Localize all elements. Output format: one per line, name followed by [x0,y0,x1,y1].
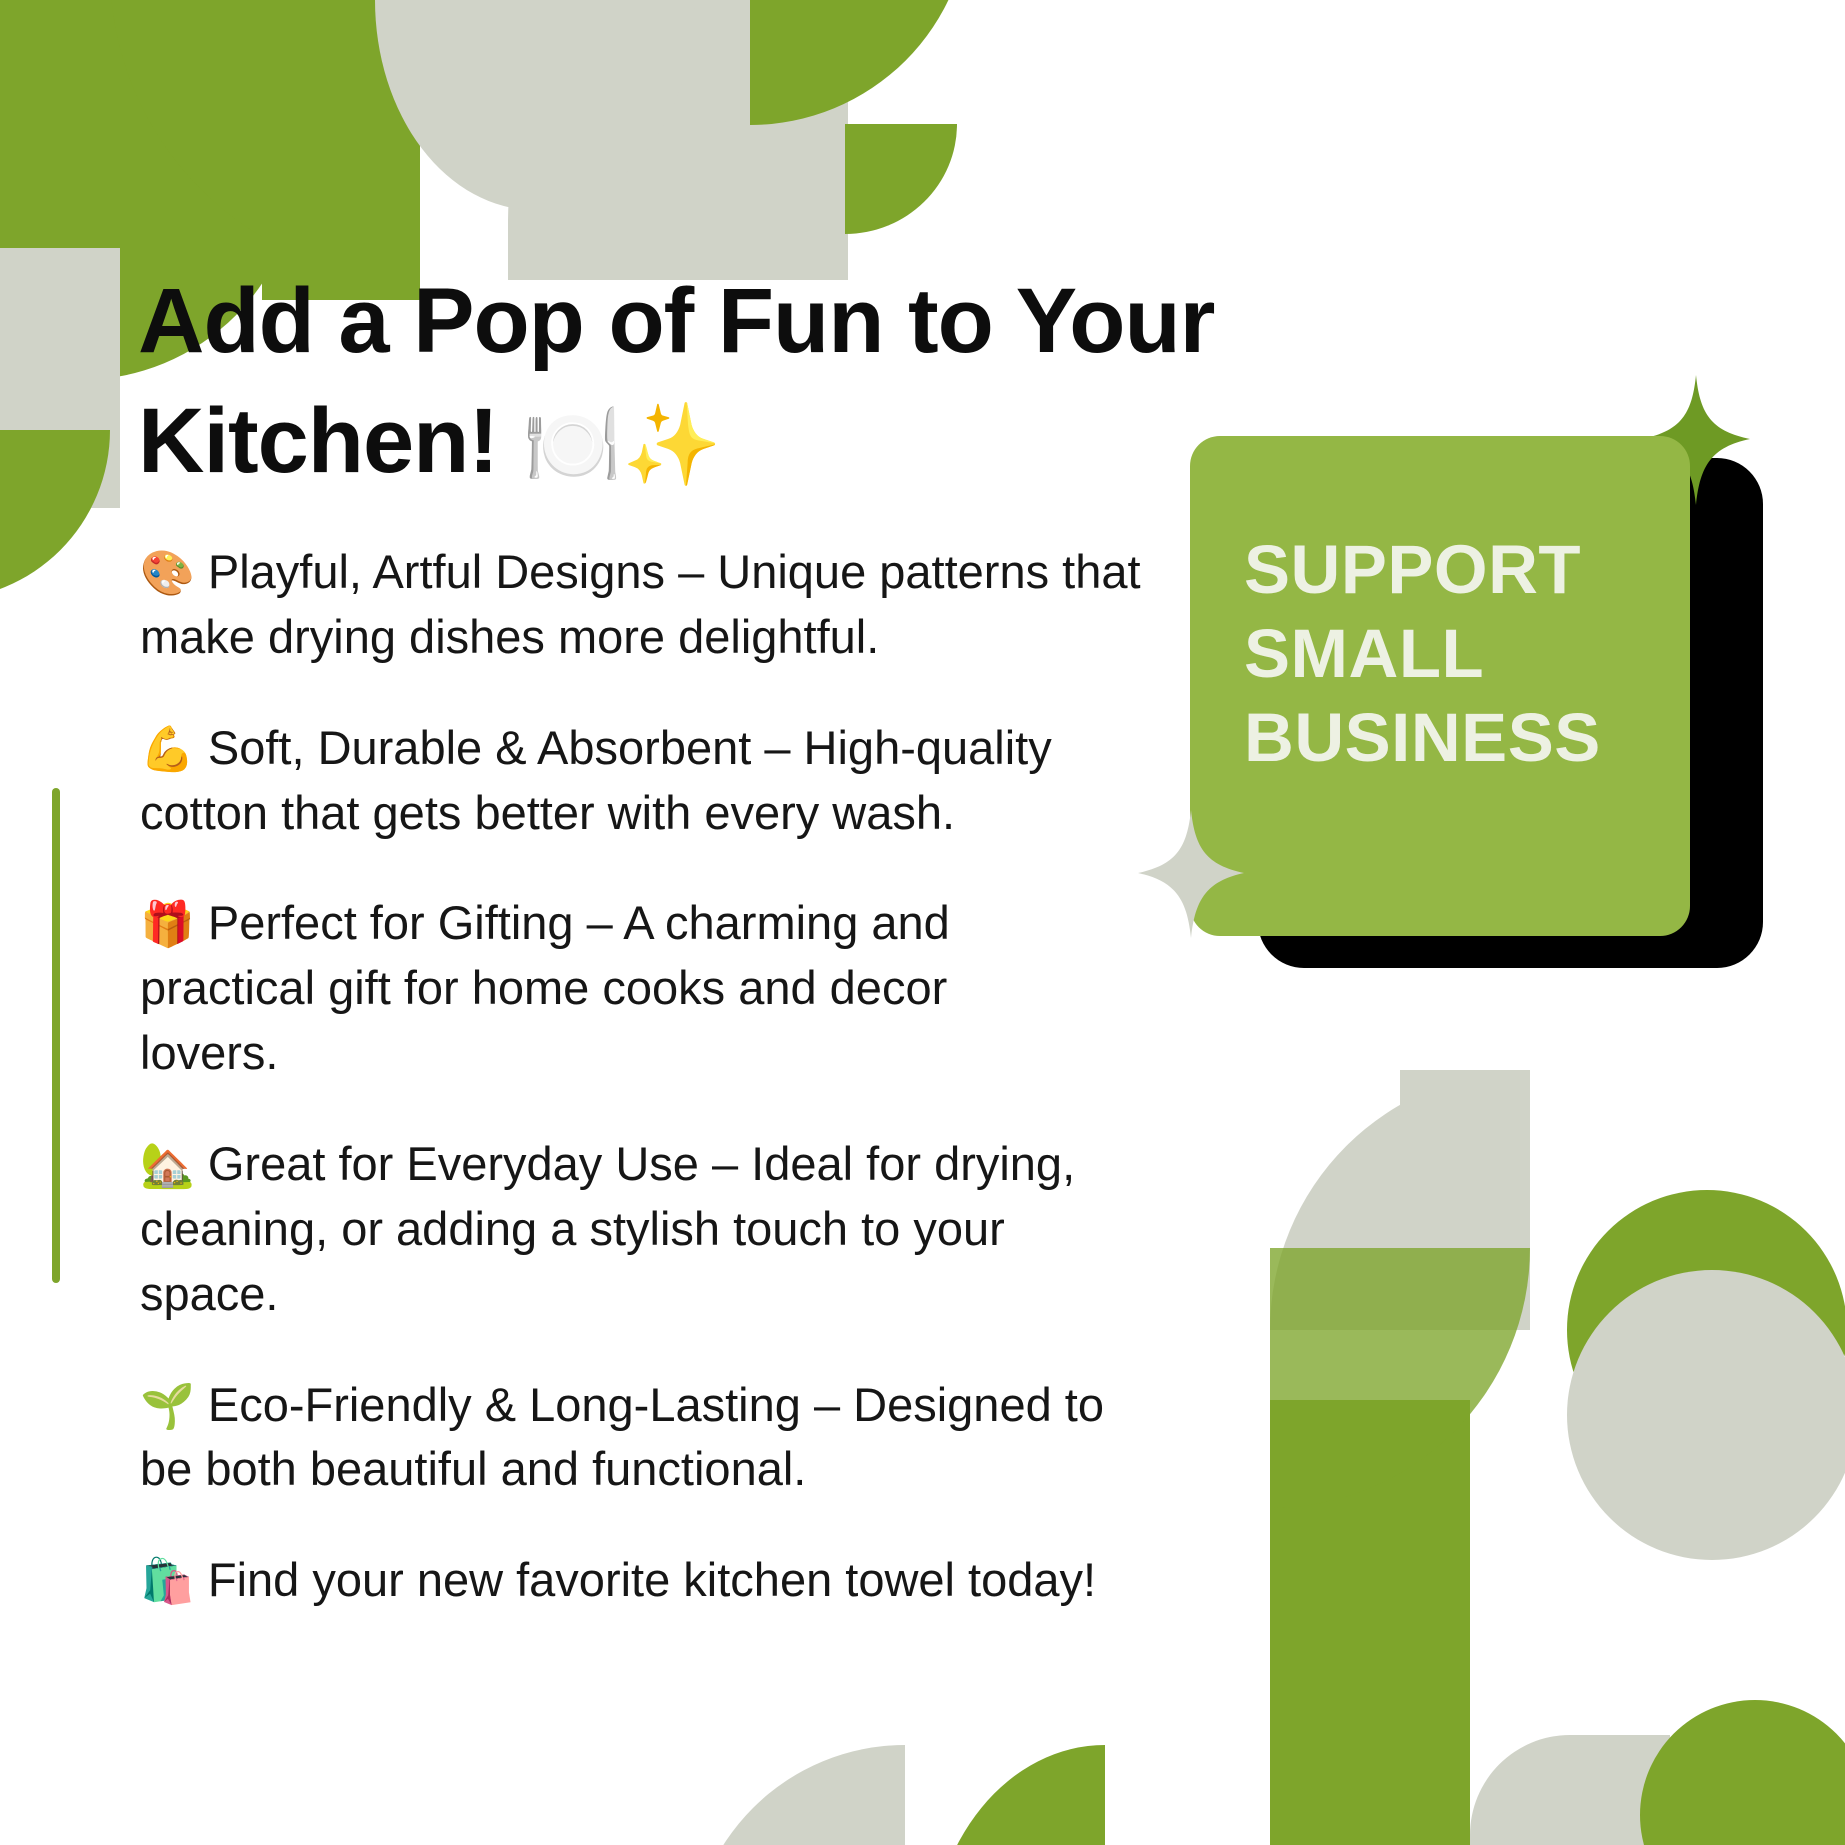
deco-left-accent-line [52,788,60,1283]
deco-bottom-right-gray-circle [1567,1270,1845,1560]
deco-top-left-gray-ellipse [375,0,695,210]
list-item-text: Soft, Durable & Absorbent – High-quality… [140,721,1052,839]
list-item-text: Eco-Friendly & Long-Lasting – Designed t… [140,1378,1104,1496]
house-with-garden-emoji: 🏡 [140,1141,195,1190]
deco-top-right-green-quarter [750,0,970,125]
deco-bottom-right-gray-quarter [1270,1070,1530,1330]
sparkle-gray-icon [1138,810,1244,938]
deco-bottom-right-gray-rect [1400,1070,1530,1250]
list-item: 🏡 Great for Everyday Use – Ideal for dry… [140,1132,1080,1327]
deco-bottom-green-quarter [930,1745,1105,1845]
headline-line-2: Kitchen! [138,390,498,492]
deco-top-left-gray-square [0,248,120,508]
deco-bottom-right-green-circle [1567,1190,1845,1470]
deco-top-right-green-square [845,124,957,234]
seedling-emoji: 🌱 [140,1382,195,1431]
poster-canvas: Add a Pop of Fun to Your Kitchen! 🍽️✨ 🎨 … [0,0,1845,1845]
deco-top-left-green-rect [262,0,420,300]
list-item-text: Find your new favorite kitchen towel tod… [208,1553,1096,1606]
headline-line-1: Add a Pop of Fun to Your [138,270,1214,372]
badge-card: SUPPORT SMALL BUSINESS [1190,436,1690,936]
list-item-text: Great for Everyday Use – Ideal for dryin… [140,1137,1075,1320]
support-small-business-badge: SUPPORT SMALL BUSINESS [1190,390,1790,990]
artist-palette-emoji: 🎨 [140,549,195,598]
list-item: 🌱 Eco-Friendly & Long-Lasting – Designed… [140,1373,1120,1503]
deco-bottom-green-block [1270,1660,1470,1845]
deco-bottom-gray-circle [1470,1735,1670,1845]
deco-top-left-green-quarter [110,0,420,280]
list-item: 💪 Soft, Durable & Absorbent – High-quali… [140,716,1170,846]
wrapped-gift-emoji: 🎁 [140,900,195,949]
dinner-plate-sparkles-emoji: 🍽️✨ [523,400,722,489]
list-item-text: Playful, Artful Designs – Unique pattern… [140,545,1141,663]
deco-left-green-quarter [0,430,110,600]
list-item: 🎨 Playful, Artful Designs – Unique patte… [140,540,1160,670]
badge-line-1: SUPPORT [1244,528,1690,612]
deco-bottom-gray-quarter [690,1745,905,1845]
deco-bottom-green-circle [1640,1700,1845,1845]
deco-bottom-right-green-column [1270,1400,1470,1660]
deco-top-mid-gray-dome [508,0,848,280]
deco-bottom-right-green-leaf [1270,1248,1530,1508]
page-title: Add a Pop of Fun to Your Kitchen! 🍽️✨ [138,262,1218,501]
benefits-list: 🎨 Playful, Artful Designs – Unique patte… [140,540,1170,1613]
flexed-biceps-emoji: 💪 [140,725,195,774]
badge-line-2: SMALL [1244,612,1690,696]
list-item-text: Perfect for Gifting – A charming and pra… [140,896,950,1079]
list-item: 🎁 Perfect for Gifting – A charming and p… [140,891,1090,1086]
list-item: 🛍️ Find your new favorite kitchen towel … [140,1548,1120,1613]
shopping-bags-emoji: 🛍️ [140,1557,195,1606]
badge-line-3: BUSINESS [1244,696,1690,780]
